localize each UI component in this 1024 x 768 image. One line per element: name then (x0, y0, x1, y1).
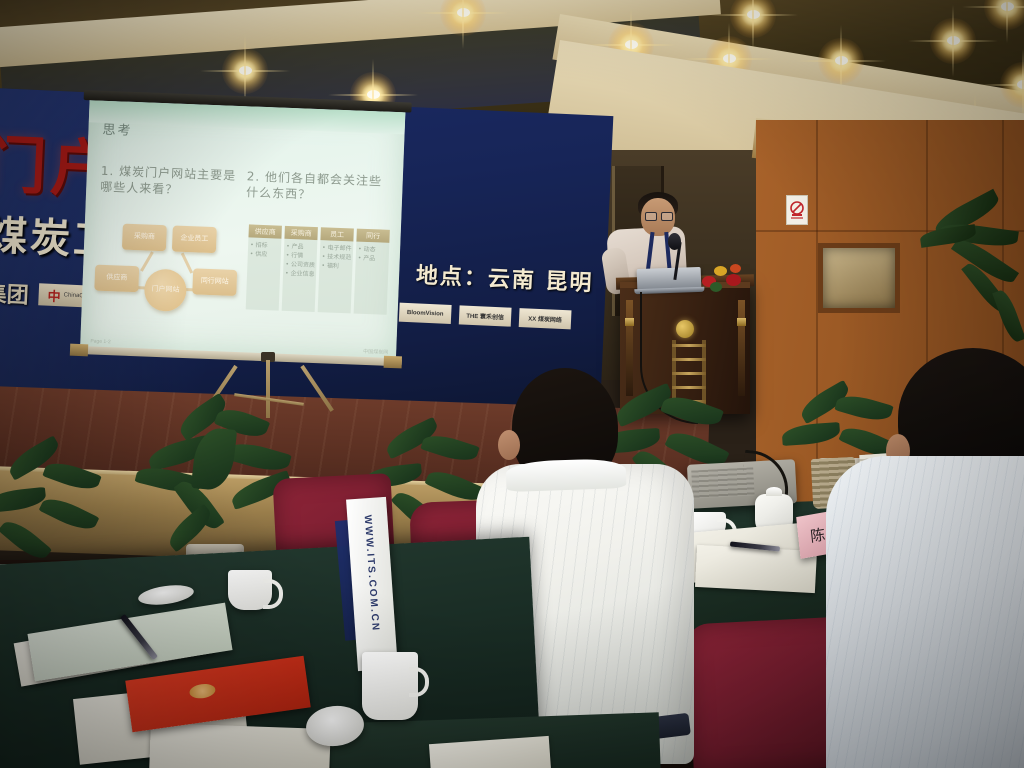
teacup-front (362, 652, 418, 720)
chinacoal-mark: 中 (47, 285, 61, 305)
projection-screen: 思考 1. 煤炭门户网站主要是哪些人来看？ 2. 他们各自都会关注些什么东西？ … (74, 90, 412, 374)
slide-table-header: 同行 (356, 229, 389, 243)
sponsor-logo-2: THE 寰禾创信 (459, 305, 512, 326)
sponsor-logo-1: BloomVision (399, 303, 452, 324)
diagram-arrow (181, 253, 193, 274)
slide-table-cell: • 产品 (358, 254, 387, 264)
slide-table-column: 同行 • 动态 • 产品 (354, 229, 390, 315)
slide-table-cells: • 产品 • 行情 • 公司资质 • 企业信息 (282, 239, 318, 312)
diagram-center-node: 门户网站 (144, 268, 188, 312)
slide-table-cells: • 招标 • 供应 (246, 237, 282, 310)
slide-question-1-text: 煤炭门户网站主要是哪些人来看？ (100, 164, 236, 196)
slide-question-2-number: 2. (247, 169, 261, 184)
conference-room-photo: 门户网站论坛 煤炭工业 地点：云南 昆明 集团 中 ChinaCoal Bloo… (0, 0, 1024, 768)
presenter-laptop (637, 267, 702, 291)
table-sign-board-text: WWW.ITS.COM.CN (360, 497, 382, 649)
podium-band (625, 318, 634, 326)
shirt-stripe-texture (826, 456, 1024, 768)
microphone-icon (668, 233, 681, 250)
teacup-left (228, 570, 272, 610)
person-ear (498, 430, 520, 460)
slide-table-header: 供应商 (248, 224, 281, 238)
person-blue-shirt (826, 456, 1024, 768)
sponsor-logo-1-text: BloomVision (407, 309, 444, 317)
screen-bracket-right (384, 356, 402, 369)
slide-footer-right: 中国煤炭网 (363, 348, 388, 356)
slide-surface: 思考 1. 煤炭门户网站主要是哪些人来看？ 2. 他们各自都会关注些什么东西？ … (80, 100, 405, 360)
paper-sheet-front-2 (149, 723, 330, 768)
slide-question-1-number: 1. (101, 164, 115, 179)
slide-table-column: 供应商 • 招标 • 供应 (246, 224, 282, 310)
slide-question-2: 2. 他们各自都会关注些什么东西？ (246, 168, 387, 206)
slide-question-1: 1. 煤炭门户网站主要是哪些人来看？ (100, 163, 241, 201)
sponsor-logo-2-text: THE 寰禾创信 (466, 311, 504, 322)
slide-table-cells: • 动态 • 产品 (354, 242, 390, 315)
podium-rail-right (738, 300, 745, 396)
slide-table-cell: • 供应 (250, 249, 279, 259)
diagram-box-1: 采购商 (122, 224, 167, 252)
slide-diagram: 采购商 企业员工 供应商 同行网站 门户网站 (91, 219, 241, 335)
slide-footer-left: Page 1-2 (90, 338, 111, 345)
sponsor-logo-3-text: XX 煤炭网络 (528, 313, 562, 324)
slide-table-column: 采购商 • 产品 • 行情 • 公司资质 • 企业信息 (282, 226, 318, 312)
slide-table-cell: • 福利 (321, 261, 350, 271)
slide-table: 供应商 • 招标 • 供应 采购商 • 产品 • 行情 • 公司资质 • 企业信… (246, 224, 391, 314)
diagram-box-2: 企业员工 (172, 226, 217, 254)
slide-table-cell: • 企业信息 (285, 269, 314, 279)
podium-band (737, 318, 746, 326)
slide-table-header: 采购商 (284, 226, 317, 240)
diagram-arrow (140, 251, 154, 272)
sponsor-logo-3: XX 煤炭网络 (519, 308, 572, 329)
slide-table-header: 员工 (320, 227, 353, 241)
screen-bracket-left (70, 344, 88, 357)
paper-sheet-back-2 (695, 545, 817, 593)
slide-title: 思考 (102, 119, 133, 139)
diagram-box-3: 供应商 (94, 265, 139, 293)
slide-table-cells: • 电子邮件 • 技术规范 • 福利 (318, 240, 354, 313)
slide-question-2-text: 他们各自都会关注些什么东西？ (246, 170, 382, 202)
glasses-icon (645, 212, 671, 219)
slide-table-column: 员工 • 电子邮件 • 技术规范 • 福利 (318, 227, 354, 313)
group-logo-text: 集团 (0, 276, 29, 310)
podium-flower-arrangement (700, 262, 746, 294)
audience-member-right (836, 348, 1024, 768)
diagram-box-4: 同行网站 (192, 268, 237, 296)
shirt-collar (506, 458, 627, 492)
